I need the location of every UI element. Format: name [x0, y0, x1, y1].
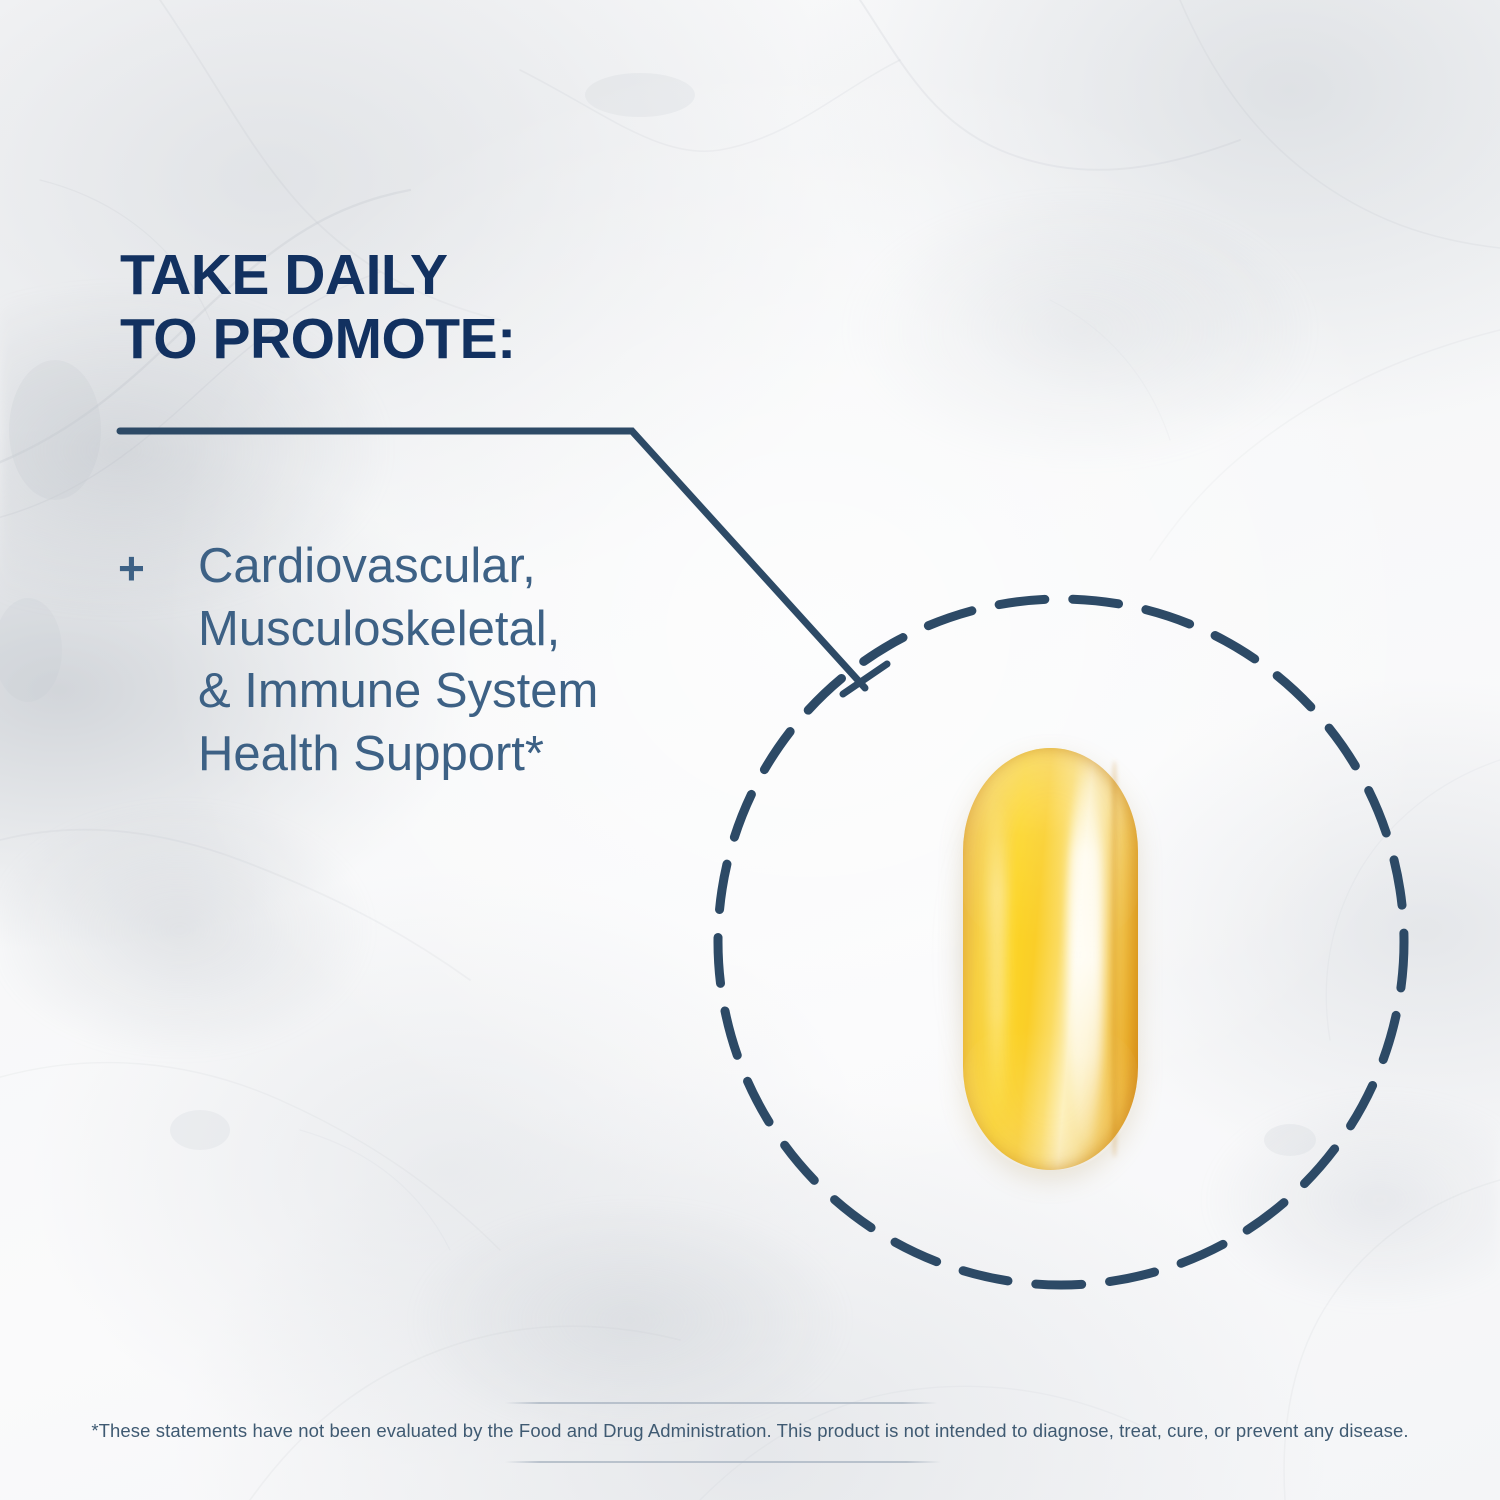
- capsule-rim-shading: [963, 748, 1138, 1170]
- headline-line-1: TAKE DAILY: [120, 243, 448, 307]
- benefit-text: Cardiovascular, Musculoskeletal, & Immun…: [198, 535, 598, 786]
- page-title: TAKE DAILY TO PROMOTE:: [120, 243, 760, 372]
- benefit-line-2: Musculoskeletal,: [198, 598, 598, 661]
- benefit-line-1: Cardiovascular,: [198, 535, 598, 598]
- capsule-body: [963, 748, 1138, 1170]
- product-infographic-canvas: TAKE DAILY TO PROMOTE: + Cardiovascular,…: [0, 0, 1500, 1500]
- footer-divider-bottom: [505, 1461, 941, 1463]
- headline-line-2: TO PROMOTE:: [120, 307, 760, 371]
- footer-disclaimer: *These statements have not been evaluate…: [0, 1420, 1500, 1442]
- softgel-capsule: [930, 720, 1190, 1200]
- benefit-line-3: & Immune System: [198, 660, 598, 723]
- benefit-line-4: Health Support*: [198, 723, 598, 786]
- footer-divider-top: [505, 1402, 937, 1404]
- benefit-list: + Cardiovascular, Musculoskeletal, & Imm…: [118, 535, 758, 786]
- plus-icon: +: [118, 535, 198, 591]
